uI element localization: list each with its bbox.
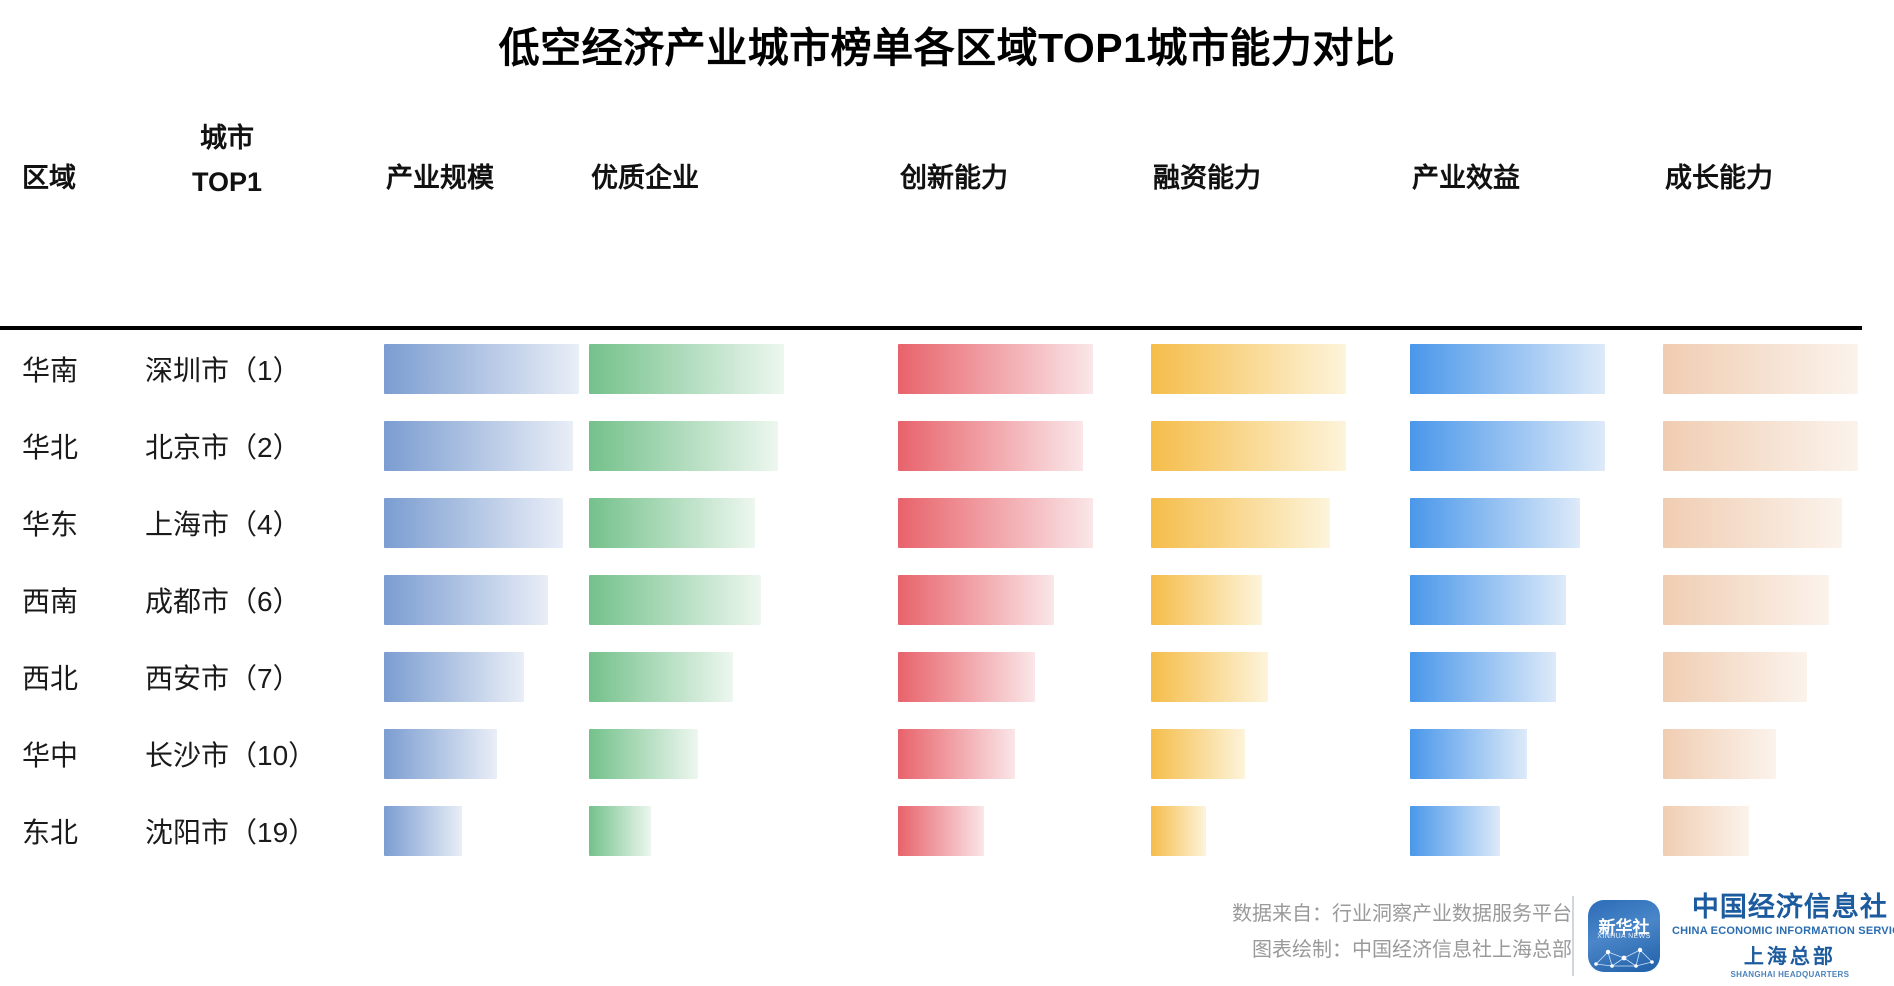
cell-city: 沈阳市（19）	[145, 811, 316, 851]
logo-name-en: CHINA ECONOMIC INFORMATION SERVICE	[1672, 925, 1894, 937]
bar-产业效益	[1410, 344, 1605, 394]
cell-region: 西南	[22, 580, 78, 620]
bar-融资能力	[1151, 498, 1330, 548]
bar-融资能力	[1151, 421, 1346, 471]
bar-创新能力	[898, 498, 1093, 548]
column-header-region: 区域	[22, 156, 76, 195]
bar-产业规模	[384, 652, 524, 702]
bar-融资能力	[1151, 344, 1346, 394]
bar-成长能力	[1663, 806, 1749, 856]
table-row: 华东上海市（4）	[0, 484, 1894, 561]
cell-city: 长沙市（10）	[145, 734, 316, 774]
infographic-root: 低空经济产业城市榜单各区域TOP1城市能力对比 区域 城市 TOP1 产业规模优…	[0, 0, 1894, 986]
cell-region: 华中	[22, 734, 78, 774]
cell-city: 西安市（7）	[145, 657, 301, 697]
bar-优质企业	[589, 729, 698, 779]
cell-region: 华北	[22, 426, 78, 466]
bar-优质企业	[589, 806, 651, 856]
column-header-metric-3: 创新能力	[900, 156, 1008, 195]
network-nodes-icon	[1592, 940, 1656, 970]
bar-产业规模	[384, 421, 573, 471]
bar-产业效益	[1410, 806, 1500, 856]
column-header-metric-5: 产业效益	[1412, 156, 1520, 195]
xinhua-news-logo-icon: 新华社 XINHUA NEWS	[1588, 900, 1660, 972]
logo-name-cn: 中国经济信息社	[1672, 893, 1894, 921]
bar-产业规模	[384, 498, 563, 548]
bar-产业效益	[1410, 652, 1556, 702]
cell-region: 东北	[22, 811, 78, 851]
cell-city: 深圳市（1）	[145, 349, 301, 389]
bar-创新能力	[898, 575, 1054, 625]
chart-credit-note: 图表绘制：中国经济信息社上海总部	[1232, 932, 1572, 968]
page-title: 低空经济产业城市榜单各区域TOP1城市能力对比	[0, 14, 1894, 74]
bar-产业效益	[1410, 421, 1605, 471]
table-row: 华南深圳市（1）	[0, 330, 1894, 407]
bar-优质企业	[589, 575, 761, 625]
footer-notes: 数据来自：行业洞察产业数据服务平台 图表绘制：中国经济信息社上海总部	[1232, 896, 1572, 968]
bar-产业规模	[384, 806, 462, 856]
table-row: 西南成都市（6）	[0, 561, 1894, 638]
bar-产业规模	[384, 344, 579, 394]
cell-region: 华南	[22, 349, 78, 389]
bar-融资能力	[1151, 575, 1262, 625]
bar-融资能力	[1151, 806, 1206, 856]
cell-city: 上海市（4）	[145, 503, 301, 543]
column-header-metric-1: 产业规模	[386, 156, 494, 195]
publisher-logo: 新华社 XINHUA NEWS 中国经济信息社 CHINA ECONOMIC I…	[1588, 890, 1880, 982]
column-header-metric-2: 优质企业	[591, 156, 699, 195]
bar-成长能力	[1663, 575, 1829, 625]
bar-优质企业	[589, 344, 784, 394]
cell-region: 西北	[22, 657, 78, 697]
logo-unit-en: SHANGHAI HEADQUARTERS	[1672, 970, 1894, 979]
column-header-city-line1: 城市	[152, 116, 302, 155]
cell-city: 成都市（6）	[145, 580, 301, 620]
bar-创新能力	[898, 344, 1093, 394]
bar-产业效益	[1410, 575, 1566, 625]
bar-产业规模	[384, 729, 497, 779]
bar-成长能力	[1663, 729, 1776, 779]
cell-city: 北京市（2）	[145, 426, 301, 466]
data-source-note: 数据来自：行业洞察产业数据服务平台	[1232, 896, 1572, 932]
bar-产业规模	[384, 575, 548, 625]
table-row: 华北北京市（2）	[0, 407, 1894, 484]
bar-融资能力	[1151, 652, 1268, 702]
bar-成长能力	[1663, 421, 1858, 471]
column-header-metric-6: 成长能力	[1665, 156, 1773, 195]
bar-创新能力	[898, 729, 1015, 779]
table-row: 华中长沙市（10）	[0, 715, 1894, 792]
bar-成长能力	[1663, 498, 1842, 548]
bar-优质企业	[589, 652, 733, 702]
column-header-city: 城市 TOP1	[152, 116, 302, 198]
bar-创新能力	[898, 806, 984, 856]
table-header-row: 区域 城市 TOP1 产业规模优质企业创新能力融资能力产业效益成长能力	[0, 104, 1894, 216]
table-body: 华南深圳市（1）华北北京市（2）华东上海市（4）西南成都市（6）西北西安市（7）…	[0, 330, 1894, 869]
bar-创新能力	[898, 421, 1083, 471]
bar-融资能力	[1151, 729, 1245, 779]
logo-divider	[1572, 896, 1574, 976]
comparison-table: 区域 城市 TOP1 产业规模优质企业创新能力融资能力产业效益成长能力 华南深圳…	[0, 104, 1894, 216]
bar-产业效益	[1410, 729, 1527, 779]
table-row: 东北沈阳市（19）	[0, 792, 1894, 869]
cell-region: 华东	[22, 503, 78, 543]
logo-wordmark: 中国经济信息社 CHINA ECONOMIC INFORMATION SERVI…	[1672, 893, 1894, 978]
column-header-metric-4: 融资能力	[1153, 156, 1261, 195]
bar-成长能力	[1663, 652, 1807, 702]
bar-成长能力	[1663, 344, 1858, 394]
bar-优质企业	[589, 421, 778, 471]
bar-创新能力	[898, 652, 1035, 702]
table-row: 西北西安市（7）	[0, 638, 1894, 715]
logo-mark-en: XINHUA NEWS	[1588, 933, 1660, 940]
bar-产业效益	[1410, 498, 1580, 548]
bar-优质企业	[589, 498, 755, 548]
column-header-city-line2: TOP1	[152, 167, 302, 198]
logo-unit-cn: 上海总部	[1672, 940, 1894, 969]
